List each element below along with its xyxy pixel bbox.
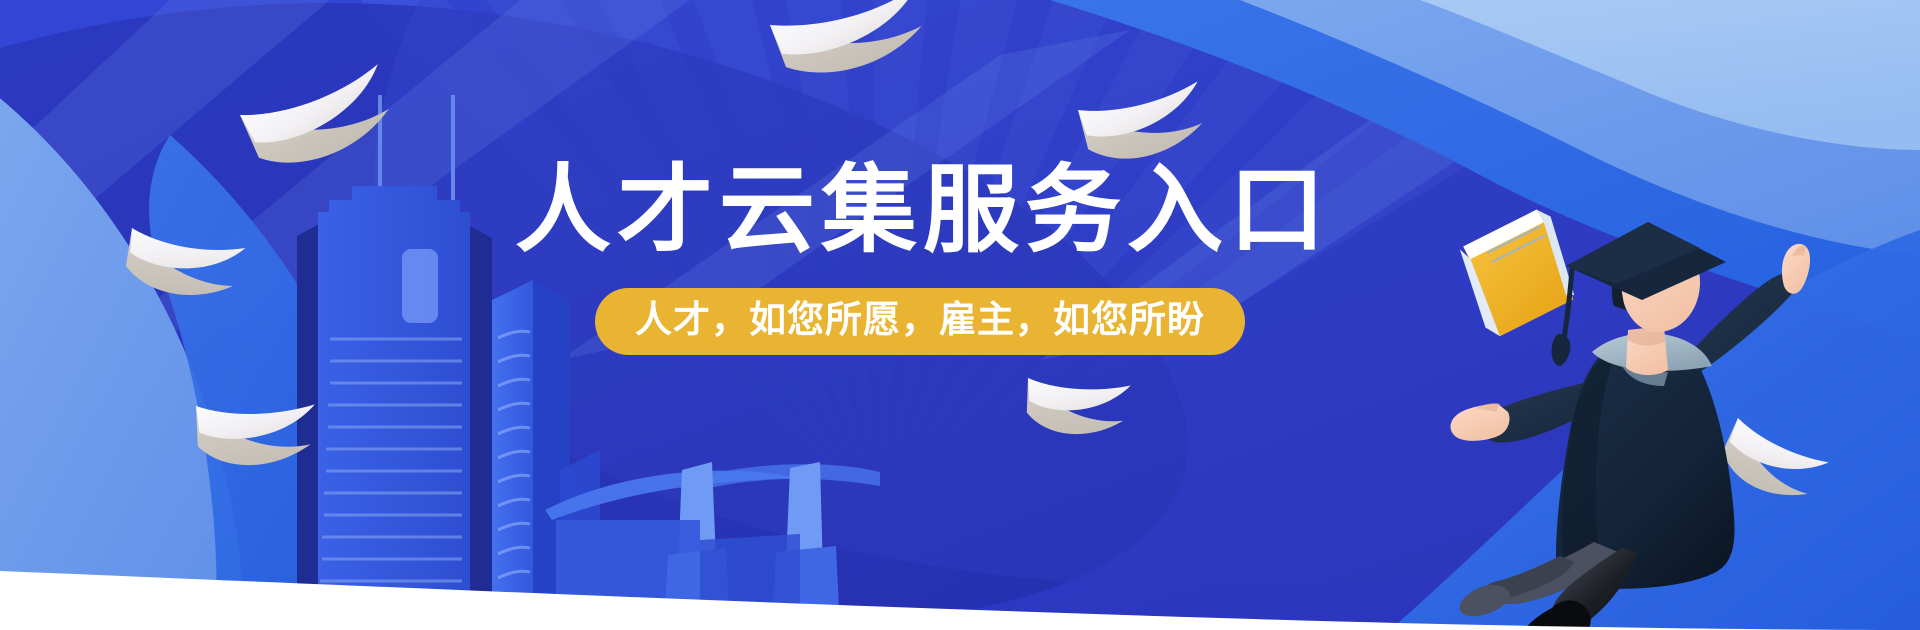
tower-main [318,186,470,630]
hero-banner: 人才云集服务入口 人才，如您所愿，雇主，如您所盼 [0,0,1920,630]
banner-artwork [0,0,1920,630]
